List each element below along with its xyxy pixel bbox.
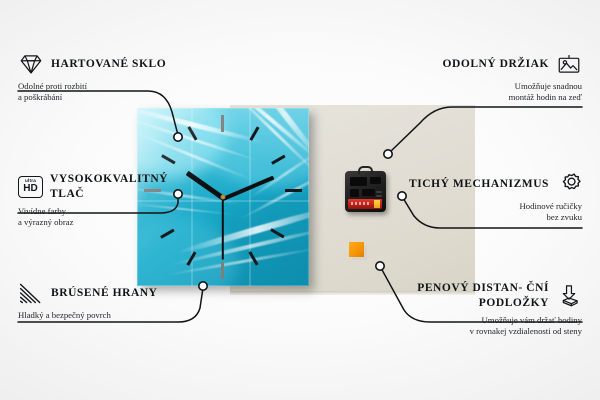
feature-foam-spacers: PENOVÝ DISTAN- ČNÍ PODLOŽKY Umožňuje vám…: [387, 281, 582, 338]
feature-desc: Hodinové ručičky bez zvuku: [407, 201, 582, 224]
feature-desc: Vivídne farby a výrazný obraz: [18, 206, 193, 229]
beveled-edge-icon: [18, 281, 44, 305]
feature-durable-hanger: ODOLNÝ DRŽIAK Umožňuje snadnou montáž ho…: [407, 52, 582, 104]
feature-title: HARTOVANÉ SKLO: [51, 57, 166, 72]
feature-title: TICHÝ MECHANIZMUS: [409, 177, 549, 192]
feature-title: VYSOKOKVALITNÝ TLAČ: [50, 172, 193, 201]
clock-second-hand: [222, 198, 224, 260]
hd-badge-large: HD: [23, 184, 37, 194]
clock-movement-mechanism: [345, 171, 386, 212]
feature-desc: Umožňuje snadnou montáž hodin na zeď: [407, 81, 582, 104]
feature-desc: Hladký a bezpečný povrch: [18, 310, 203, 321]
down-arrow-pad-icon: [556, 284, 582, 308]
clock-tick-3: [285, 189, 302, 192]
feature-desc: Odolné proti rozbití a poškrábání: [18, 81, 193, 104]
picture-frame-icon: [556, 52, 582, 76]
clock-tick-6: [221, 262, 224, 279]
clock-tick-12: [221, 115, 224, 132]
clock-battery: [348, 199, 382, 209]
feature-beveled-edges: BRÚSENÉ HRANY Hladký a bezpečný povrch: [18, 281, 203, 321]
feature-title: ODOLNÝ DRŽIAK: [442, 57, 549, 72]
feature-title: PENOVÝ DISTAN- ČNÍ PODLOŽKY: [387, 281, 549, 310]
feature-high-quality-print: ultra HD VYSOKOKVALITNÝ TLAČ Vivídne far…: [18, 172, 193, 229]
foam-spacer-pad: [349, 242, 364, 257]
ultra-hd-icon: ultra HD: [18, 176, 43, 198]
feature-tempered-glass: HARTOVANÉ SKLO Odolné proti rozbití a po…: [18, 52, 193, 104]
feature-silent-mechanism: TICHÝ MECHANIZMUS Hodinové ručičky bez z…: [407, 172, 582, 224]
diamond-icon: [18, 52, 44, 76]
feature-title: BRÚSENÉ HRANY: [51, 286, 158, 301]
movement-hanger: [358, 166, 373, 174]
clock-hand-cap: [221, 195, 226, 200]
gear-icon: [556, 172, 582, 196]
feature-desc: Umožňuje vám držať hodiny v rovnakej vzd…: [387, 315, 582, 338]
